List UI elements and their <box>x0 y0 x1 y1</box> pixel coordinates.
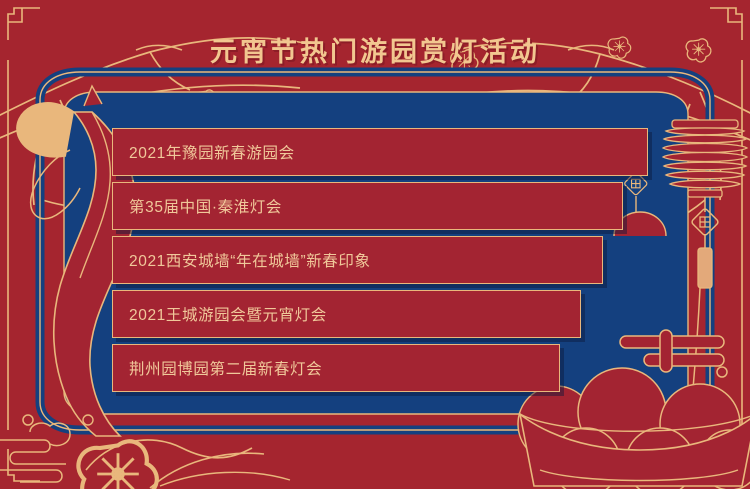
list-item-label: 荆州园博园第二届新春灯会 <box>113 357 322 379</box>
list-item[interactable]: 第35届中国·秦淮灯会 <box>112 182 623 230</box>
list-item[interactable]: 2021年豫园新春游园会 <box>112 128 648 176</box>
list-item-label: 2021年豫园新春游园会 <box>113 141 295 163</box>
page-title: 元宵节热门游园赏灯活动 <box>0 30 750 69</box>
list-item[interactable]: 荆州园博园第二届新春灯会 <box>112 344 560 392</box>
lantern-festival-poster: 元宵节热门游园赏灯活动 2021年豫园新春游园会 第35届中国·秦淮灯会 202… <box>0 0 750 489</box>
list-item[interactable]: 2021王城游园会暨元宵灯会 <box>112 290 581 338</box>
list-item-label: 2021西安城墙“年在城墙”新春印象 <box>113 249 371 271</box>
activity-list: 2021年豫园新春游园会 第35届中国·秦淮灯会 2021西安城墙“年在城墙”新… <box>112 128 648 398</box>
lantern-tassel <box>698 248 712 288</box>
list-item-label: 第35届中国·秦淮灯会 <box>113 195 282 217</box>
list-item[interactable]: 2021西安城墙“年在城墙”新春印象 <box>112 236 603 284</box>
list-item-label: 2021王城游园会暨元宵灯会 <box>113 303 327 325</box>
